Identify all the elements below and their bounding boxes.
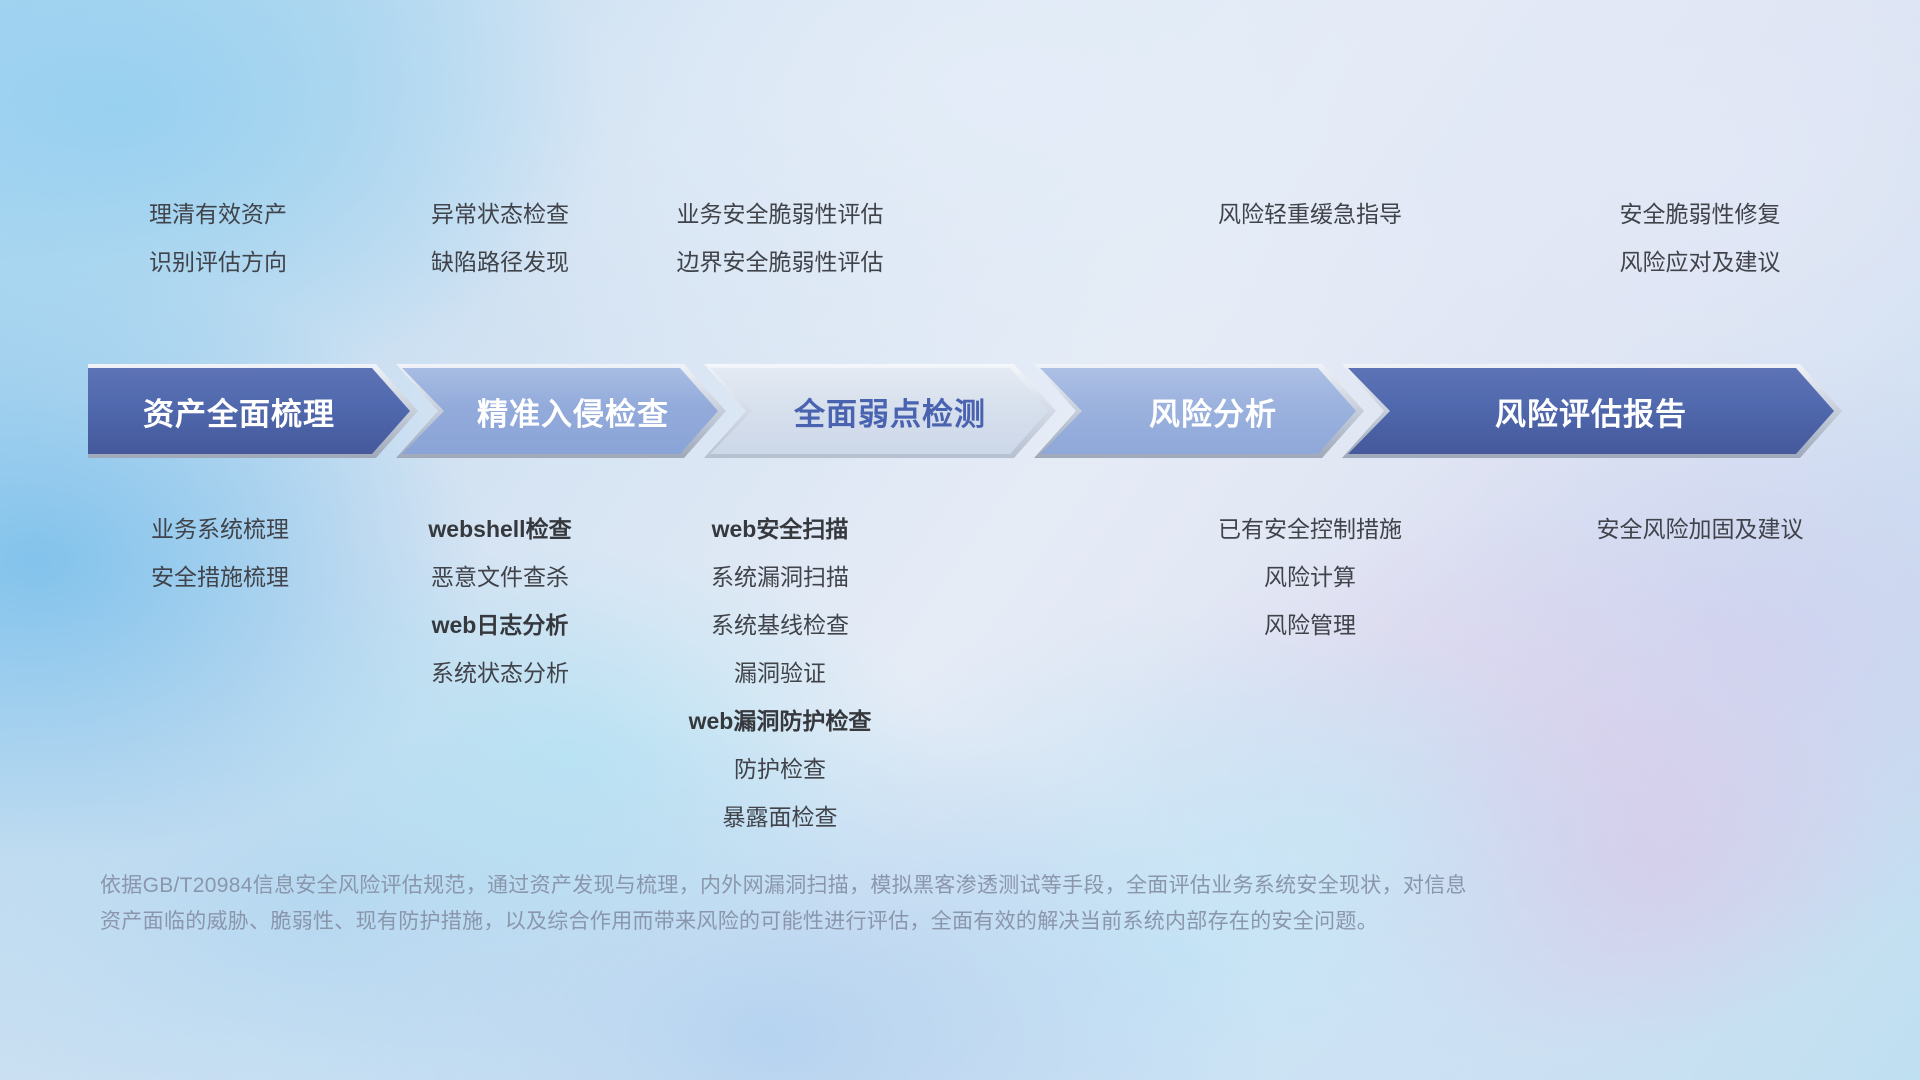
top-column-risk-report: 安全脆弱性修复 风险应对及建议 — [1520, 190, 1880, 286]
bottom-item: 系统基线检查 — [610, 601, 950, 649]
stage-arrow-label: 风险评估报告 — [1342, 389, 1842, 434]
top-item: 风险应对及建议 — [1520, 238, 1880, 286]
stage-arrow-weakness-detect[interactable]: 全面弱点检测 — [704, 364, 1056, 458]
footer-note: 依据GB/T20984信息安全风险评估规范，通过资产发现与梳理，内外网漏洞扫描，… — [100, 868, 1600, 940]
bottom-column-weakness-detect: web安全扫描 系统漏洞扫描 系统基线检查 漏洞验证 web漏洞防护检查 防护检… — [610, 505, 950, 841]
stage-arrow-risk-report[interactable]: 风险评估报告 — [1342, 364, 1842, 458]
stage-arrow-risk-analysis[interactable]: 风险分析 — [1034, 364, 1364, 458]
top-item: 业务安全脆弱性评估 — [580, 190, 980, 238]
bottom-item: 风险计算 — [1140, 553, 1480, 601]
top-column-risk-analysis: 风险轻重缓急指导 — [1130, 190, 1490, 238]
bottom-column-risk-analysis: 已有安全控制措施 风险计算 风险管理 — [1140, 505, 1480, 649]
top-column-weakness-detect: 业务安全脆弱性评估 边界安全脆弱性评估 — [580, 190, 980, 286]
stage-arrow-label: 全面弱点检测 — [704, 389, 1056, 434]
stage-arrow-asset-review[interactable]: 资产全面梳理 — [88, 364, 418, 458]
stage-arrow-label: 风险分析 — [1034, 389, 1364, 434]
bottom-item: 风险管理 — [1140, 601, 1480, 649]
top-item: 风险轻重缓急指导 — [1130, 190, 1490, 238]
process-diagram: 理清有效资产 识别评估方向 异常状态检查 缺陷路径发现 业务安全脆弱性评估 边界… — [0, 0, 1920, 1080]
bottom-item: web漏洞防护检查 — [610, 697, 950, 745]
bottom-item: 安全风险加固及建议 — [1500, 505, 1900, 553]
bottom-column-risk-report: 安全风险加固及建议 — [1500, 505, 1900, 553]
bottom-item: 暴露面检查 — [610, 793, 950, 841]
bottom-item: 已有安全控制措施 — [1140, 505, 1480, 553]
footer-note-line: 依据GB/T20984信息安全风险评估规范，通过资产发现与梳理，内外网漏洞扫描，… — [100, 868, 1600, 904]
footer-note-line: 资产面临的威胁、脆弱性、现有防护措施，以及综合作用而带来风险的可能性进行评估，全… — [100, 904, 1600, 940]
bottom-item: web安全扫描 — [610, 505, 950, 553]
stage-arrow-label: 精准入侵检查 — [396, 389, 726, 434]
bottom-item: 漏洞验证 — [610, 649, 950, 697]
bottom-item: 防护检查 — [610, 745, 950, 793]
top-item: 安全脆弱性修复 — [1520, 190, 1880, 238]
stage-arrow-band: 资产全面梳理 精准入侵检查 — [0, 364, 1920, 458]
stage-arrow-label: 资产全面梳理 — [88, 389, 418, 434]
bottom-item: 系统漏洞扫描 — [610, 553, 950, 601]
stage-arrow-intrusion-check[interactable]: 精准入侵检查 — [396, 364, 726, 458]
top-item: 边界安全脆弱性评估 — [580, 238, 980, 286]
